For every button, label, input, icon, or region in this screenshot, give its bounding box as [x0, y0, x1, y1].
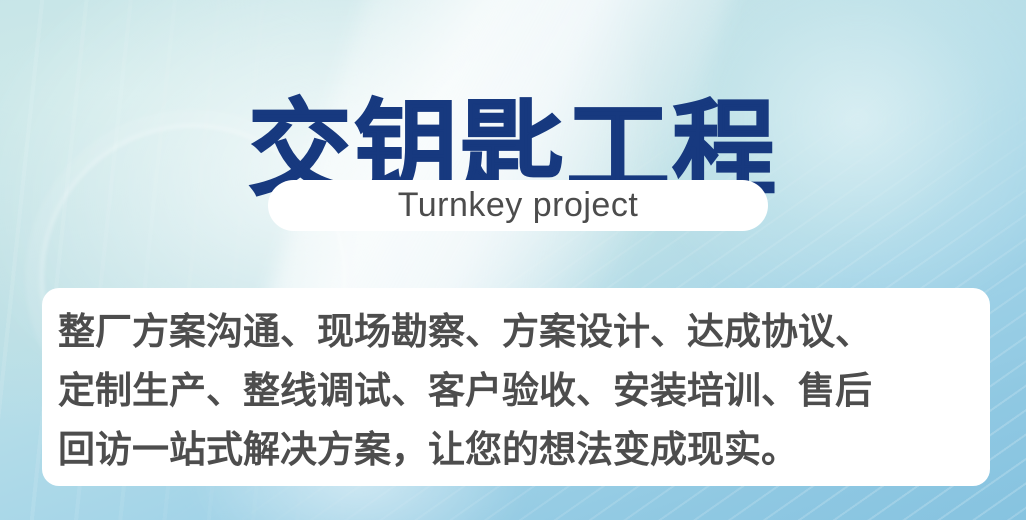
description-line-1: 整厂方案沟通、现场勘察、方案设计、达成协议、 — [58, 302, 974, 361]
banner-content: 交钥匙工程 Turnkey project 整厂方案沟通、现场勘察、方案设计、达… — [0, 0, 1026, 520]
subtitle-text: Turnkey project — [398, 186, 639, 225]
subtitle-pill: Turnkey project — [268, 180, 768, 231]
description-line-2: 定制生产、整线调试、客户验收、安装培训、售后 — [58, 361, 974, 420]
turnkey-project-banner: 交钥匙工程 Turnkey project 整厂方案沟通、现场勘察、方案设计、达… — [0, 0, 1026, 520]
description-card: 整厂方案沟通、现场勘察、方案设计、达成协议、 定制生产、整线调试、客户验收、安装… — [42, 288, 990, 486]
description-text: 整厂方案沟通、现场勘察、方案设计、达成协议、 定制生产、整线调试、客户验收、安装… — [58, 302, 974, 479]
description-line-3: 回访一站式解决方案，让您的想法变成现实。 — [58, 420, 974, 479]
